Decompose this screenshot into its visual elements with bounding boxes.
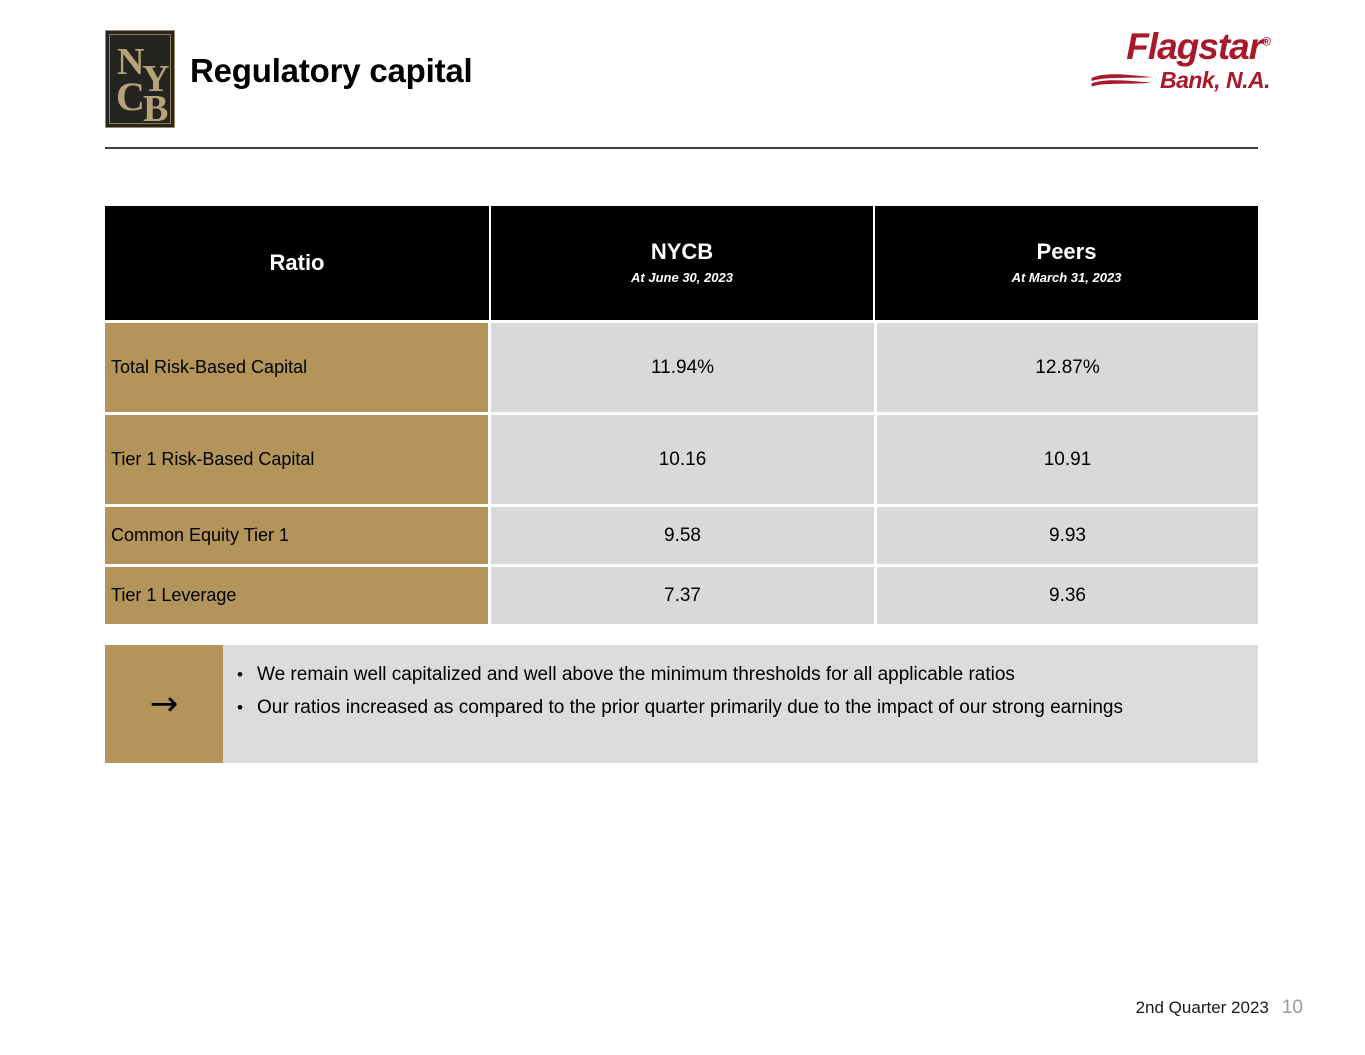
list-item: • We remain well capitalized and well ab… xyxy=(223,662,1236,689)
table-row: Tier 1 Leverage 7.37 9.36 xyxy=(105,567,1258,624)
registered-trademark-icon: ® xyxy=(1262,35,1270,49)
column-header-title-nycb: NYCB xyxy=(651,240,713,264)
commentary-callout: → • We remain well capitalized and well … xyxy=(105,645,1258,763)
bullet-text: Our ratios increased as compared to the … xyxy=(257,695,1236,722)
bullet-text: We remain well capitalized and well abov… xyxy=(257,662,1236,689)
row-value-peers: 9.93 xyxy=(877,507,1258,564)
row-label: Total Risk-Based Capital xyxy=(105,323,488,412)
header-divider xyxy=(105,147,1258,149)
row-value-peers: 9.36 xyxy=(877,567,1258,624)
flagstar-word-text: Flagstar xyxy=(1126,26,1262,67)
list-item: • Our ratios increased as compared to th… xyxy=(223,695,1236,722)
nycb-logo-border: N Y C B xyxy=(109,34,171,124)
callout-accent-panel: → xyxy=(105,645,223,763)
flagstar-subtitle: Bank, N.A. xyxy=(1160,69,1270,92)
flagstar-wordmark: Flagstar® xyxy=(1090,28,1270,65)
row-label: Tier 1 Leverage xyxy=(105,567,488,624)
row-value-peers: 12.87% xyxy=(877,323,1258,412)
table-row: Total Risk-Based Capital 11.94% 12.87% xyxy=(105,323,1258,412)
nycb-logo-letter-b: B xyxy=(143,90,168,128)
row-label: Common Equity Tier 1 xyxy=(105,507,488,564)
column-header-subtitle-nycb: At June 30, 2023 xyxy=(631,271,733,285)
table-column-header-peers: Peers At March 31, 2023 xyxy=(873,206,1258,320)
arrow-right-icon: → xyxy=(150,687,179,721)
nycb-logo: N Y C B xyxy=(105,30,175,128)
footer-quarter-label: 2nd Quarter 2023 xyxy=(1136,998,1269,1018)
slide-footer: 2nd Quarter 2023 10 xyxy=(1136,997,1303,1019)
row-label: Tier 1 Risk-Based Capital xyxy=(105,415,488,504)
footer-page-number: 10 xyxy=(1282,997,1303,1019)
column-header-subtitle-peers: At March 31, 2023 xyxy=(1012,271,1122,285)
table-header-row: Ratio NYCB At June 30, 2023 Peers At Mar… xyxy=(105,206,1258,320)
row-value-peers: 10.91 xyxy=(877,415,1258,504)
table-column-header-nycb: NYCB At June 30, 2023 xyxy=(489,206,873,320)
table-row: Tier 1 Risk-Based Capital 10.16 10.91 xyxy=(105,415,1258,504)
bullet-marker-icon: • xyxy=(223,662,257,689)
row-value-nycb: 9.58 xyxy=(491,507,874,564)
row-value-nycb: 11.94% xyxy=(491,323,874,412)
row-value-nycb: 7.37 xyxy=(491,567,874,624)
nycb-logo-letter-c: C xyxy=(116,77,145,117)
flagstar-wave-icon xyxy=(1090,70,1154,92)
regulatory-capital-table: Ratio NYCB At June 30, 2023 Peers At Mar… xyxy=(105,206,1258,624)
table-row: Common Equity Tier 1 9.58 9.93 xyxy=(105,507,1258,564)
table-column-header-ratio: Ratio xyxy=(105,206,489,320)
callout-body: • We remain well capitalized and well ab… xyxy=(223,645,1258,763)
flagstar-subrow: Bank, N.A. xyxy=(1090,69,1270,92)
page-title: Regulatory capital xyxy=(190,52,472,90)
slide-header: N Y C B Regulatory capital Flagstar® Ban… xyxy=(0,0,1365,150)
bullet-marker-icon: • xyxy=(223,695,257,722)
column-header-title-peers: Peers xyxy=(1037,240,1097,264)
flagstar-logo: Flagstar® Bank, N.A. xyxy=(1090,28,1270,110)
row-value-nycb: 10.16 xyxy=(491,415,874,504)
column-header-title-ratio: Ratio xyxy=(270,251,325,275)
